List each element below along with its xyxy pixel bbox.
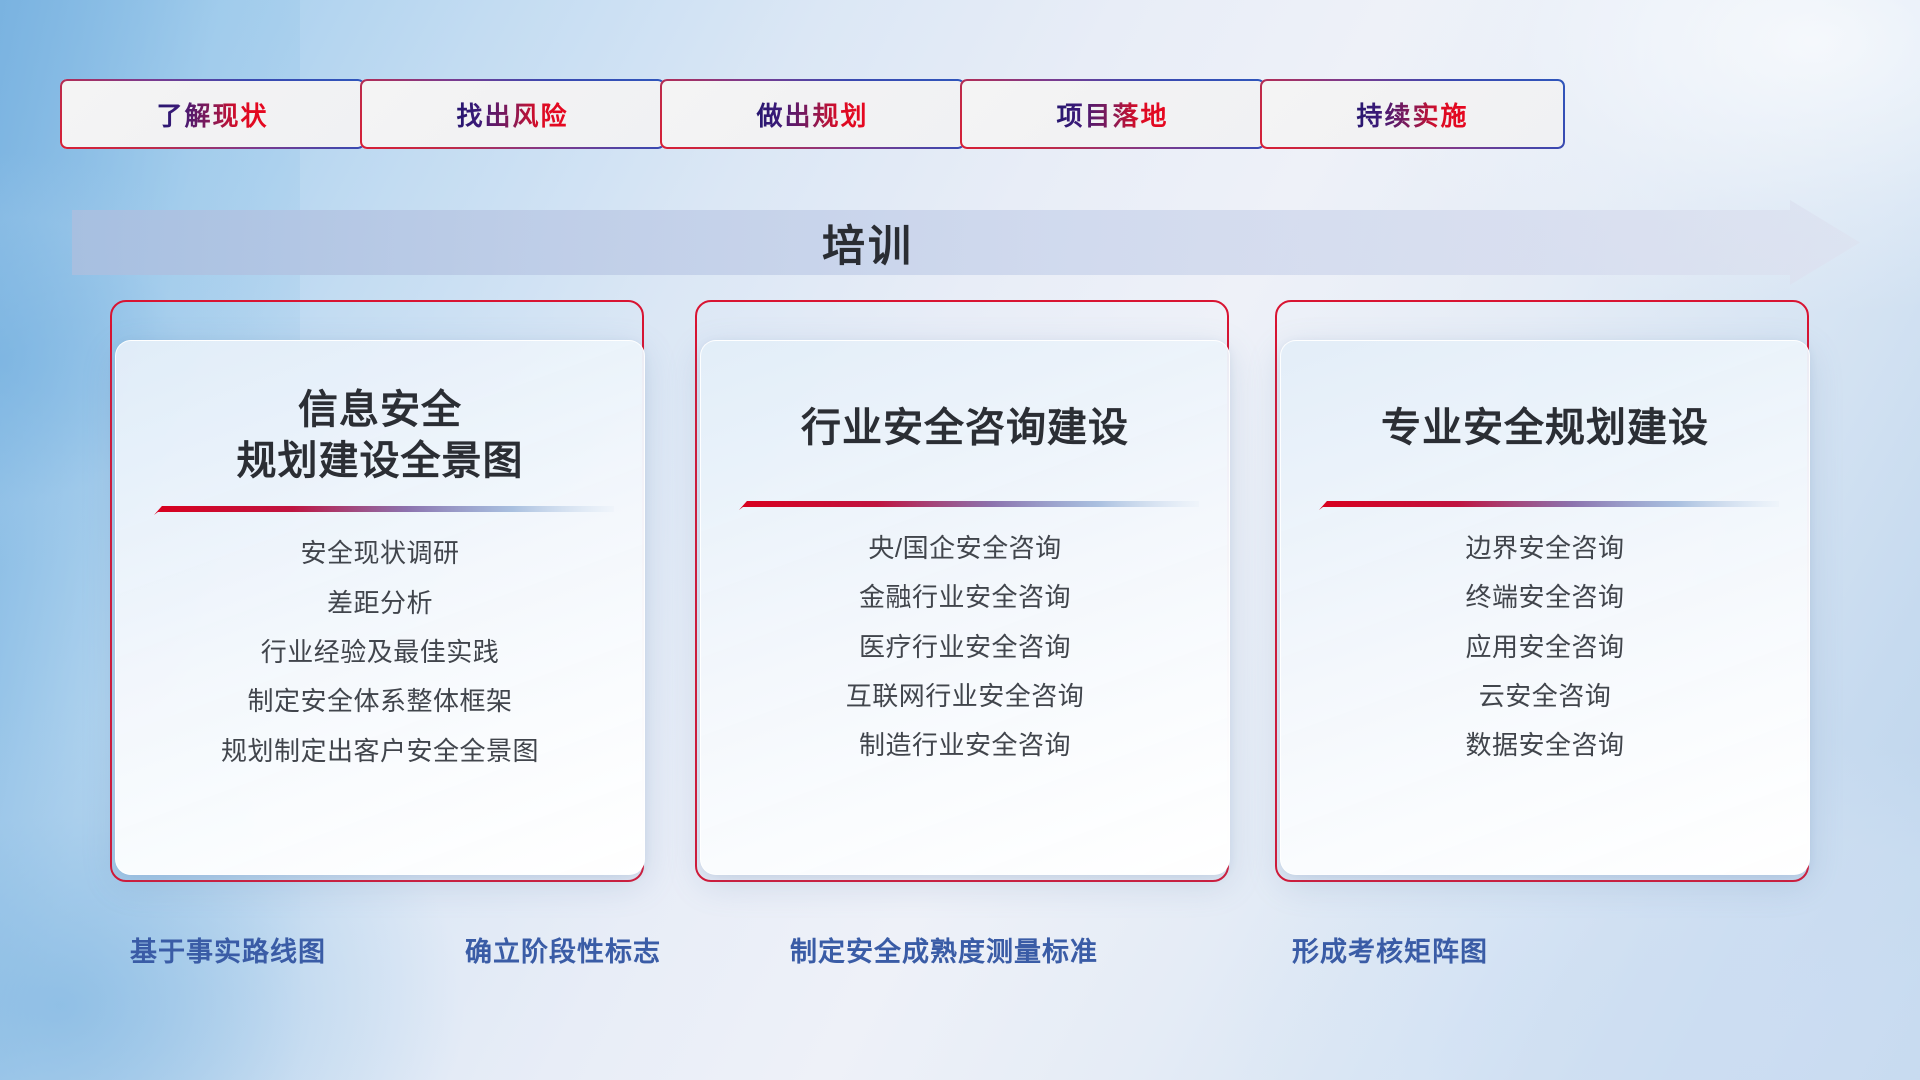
card-1-title: 信息安全 规划建设全景图	[237, 385, 524, 487]
card-3[interactable]: 专业安全规划建设 边界安全咨询	[1280, 340, 1810, 875]
card-3-title: 专业安全规划建设	[1381, 403, 1709, 454]
card-2-item-5: 制造行业安全咨询	[859, 725, 1071, 765]
card-row: 信息安全 规划建设全景图 安全现状调研	[0, 0, 1920, 1080]
card-1-item-5: 规划制定出客户安全全景图	[221, 731, 539, 771]
card-2-item-1: 央/国企安全咨询	[868, 528, 1061, 568]
card-2-item-3: 医疗行业安全咨询	[859, 627, 1071, 667]
card-1-item-list: 安全现状调研 差距分析 行业经验及最佳实践 制定安全体系整体框架 规划制定出客户…	[146, 533, 614, 770]
card-3-item-5: 数据安全咨询	[1465, 725, 1624, 765]
card-1[interactable]: 信息安全 规划建设全景图 安全现状调研	[115, 340, 645, 875]
card-1-item-2: 差距分析	[327, 583, 433, 623]
card-2-item-2: 金融行业安全咨询	[859, 577, 1071, 617]
card-1-item-4: 制定安全体系整体框架	[247, 681, 512, 721]
card-2-title: 行业安全咨询建设	[801, 403, 1129, 454]
card-3-divider	[1311, 496, 1779, 512]
card-2[interactable]: 行业安全咨询建设 央/国企安全咨询	[700, 340, 1230, 875]
bottom-label-4: 形成考核矩阵图	[1292, 930, 1488, 969]
card-3-item-1: 边界安全咨询	[1465, 528, 1624, 568]
card-3-item-3: 应用安全咨询	[1465, 627, 1624, 667]
bottom-label-3: 制定安全成熟度测量标准	[790, 930, 1098, 969]
card-3-item-list: 边界安全咨询 终端安全咨询 应用安全咨询 云安全咨询 数据安全咨询	[1311, 528, 1779, 765]
bottom-label-row: 基于事实路线图 确立阶段性标志 制定安全成熟度测量标准 形成考核矩阵图	[0, 930, 1920, 1010]
bottom-label-1: 基于事实路线图	[130, 930, 326, 969]
card-3-item-4: 云安全咨询	[1479, 676, 1612, 716]
card-2-divider	[731, 496, 1199, 512]
card-1-item-1: 安全现状调研	[300, 533, 459, 573]
card-1-divider	[146, 501, 614, 517]
card-1-item-3: 行业经验及最佳实践	[261, 632, 500, 672]
card-3-item-2: 终端安全咨询	[1465, 577, 1624, 617]
card-2-item-4: 互联网行业安全咨询	[846, 676, 1085, 716]
card-2-item-list: 央/国企安全咨询 金融行业安全咨询 医疗行业安全咨询 互联网行业安全咨询 制造行…	[731, 528, 1199, 765]
bottom-label-2: 确立阶段性标志	[465, 930, 661, 969]
